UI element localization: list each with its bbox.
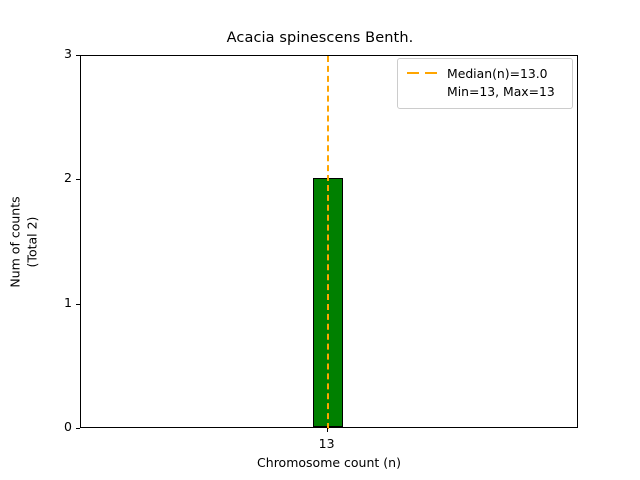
legend-entry-label: Median(n)=13.0 Min=13, Max=13: [447, 65, 555, 101]
y-tick-label-0: 0: [64, 421, 72, 434]
x-axis-label: Chromosome count (n): [80, 455, 578, 470]
plot-area: [80, 55, 578, 428]
y-tick-label-3: 3: [64, 48, 72, 61]
chart-figure: Acacia spinescens Benth. Num of counts (…: [0, 0, 640, 480]
legend-minmax-label: Min=13, Max=13: [447, 83, 555, 101]
y-tick-label-2: 2: [64, 172, 72, 185]
legend: Median(n)=13.0 Min=13, Max=13: [397, 58, 573, 109]
y-axis-label-line-1: Num of counts: [8, 196, 25, 287]
legend-entry-median: Median(n)=13.0 Min=13, Max=13: [406, 65, 564, 101]
legend-median-label: Median(n)=13.0: [447, 65, 555, 83]
y-axis-label: Num of counts (Total 2): [8, 196, 41, 287]
y-axis-label-line-2: (Total 2): [24, 196, 41, 287]
chart-title: Acacia spinescens Benth.: [0, 30, 640, 46]
y-tick-label-1: 1: [64, 297, 72, 310]
y-axis-label-container: Num of counts (Total 2): [0, 55, 48, 428]
x-tick-label-13: 13: [297, 436, 357, 451]
median-line: [327, 56, 329, 429]
x-tick-mark-13: [327, 428, 328, 432]
y-tick-mark-0: [76, 428, 80, 429]
legend-dashed-line-icon: [406, 65, 440, 81]
